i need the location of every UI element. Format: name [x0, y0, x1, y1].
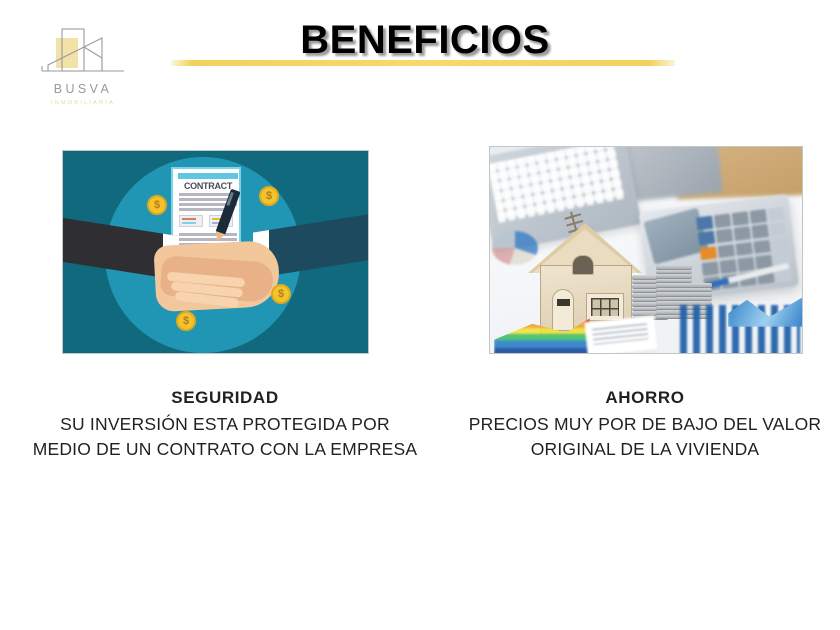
title-underline-rule: [171, 60, 675, 66]
caption-heading: SEGURIDAD: [30, 388, 420, 408]
logo-tagline: INMOBILIARIA: [22, 100, 144, 106]
caption-ahorro: AHORRO PRECIOS MUY POR DE BAJO DEL VALOR…: [460, 388, 830, 463]
dollar-coin-icon: $: [271, 284, 291, 304]
dollar-coin-icon: $: [147, 195, 167, 215]
benefit-card-seguridad: CONTRACT: [62, 150, 369, 354]
busva-logo: BUSVA INMOBILIARIA: [22, 26, 144, 112]
house-door: [552, 289, 574, 331]
dollar-coin-icon: $: [176, 311, 196, 331]
page-title: BENEFICIOS: [170, 18, 680, 63]
contract-title-text: CONTRACT: [178, 181, 238, 191]
caption-seguridad: SEGURIDAD SU INVERSIÓN ESTA PROTEGIDA PO…: [30, 388, 420, 463]
caption-heading: AHORRO: [460, 388, 830, 408]
attic-window: [572, 255, 594, 275]
printed-document: [584, 315, 657, 354]
slide-canvas: BUSVA INMOBILIARIA BENEFICIOS CONTRACT: [0, 0, 840, 630]
caption-body: SU INVERSIÓN ESTA PROTEGIDA POR MEDIO DE…: [30, 412, 420, 463]
contract-header-bar: [178, 173, 238, 179]
caption-body: PRECIOS MUY POR DE BAJO DEL VALOR ORIGIN…: [460, 412, 830, 463]
logo-wordmark: BUSVA: [22, 82, 144, 96]
house-window: [586, 293, 624, 321]
handshake-contract-illustration: CONTRACT: [62, 150, 369, 354]
model-house-coins-calculator-photo: [489, 146, 803, 354]
building-outline-logo-icon: [22, 26, 144, 86]
benefit-card-ahorro: [489, 146, 803, 354]
dollar-coin-icon: $: [259, 186, 279, 206]
